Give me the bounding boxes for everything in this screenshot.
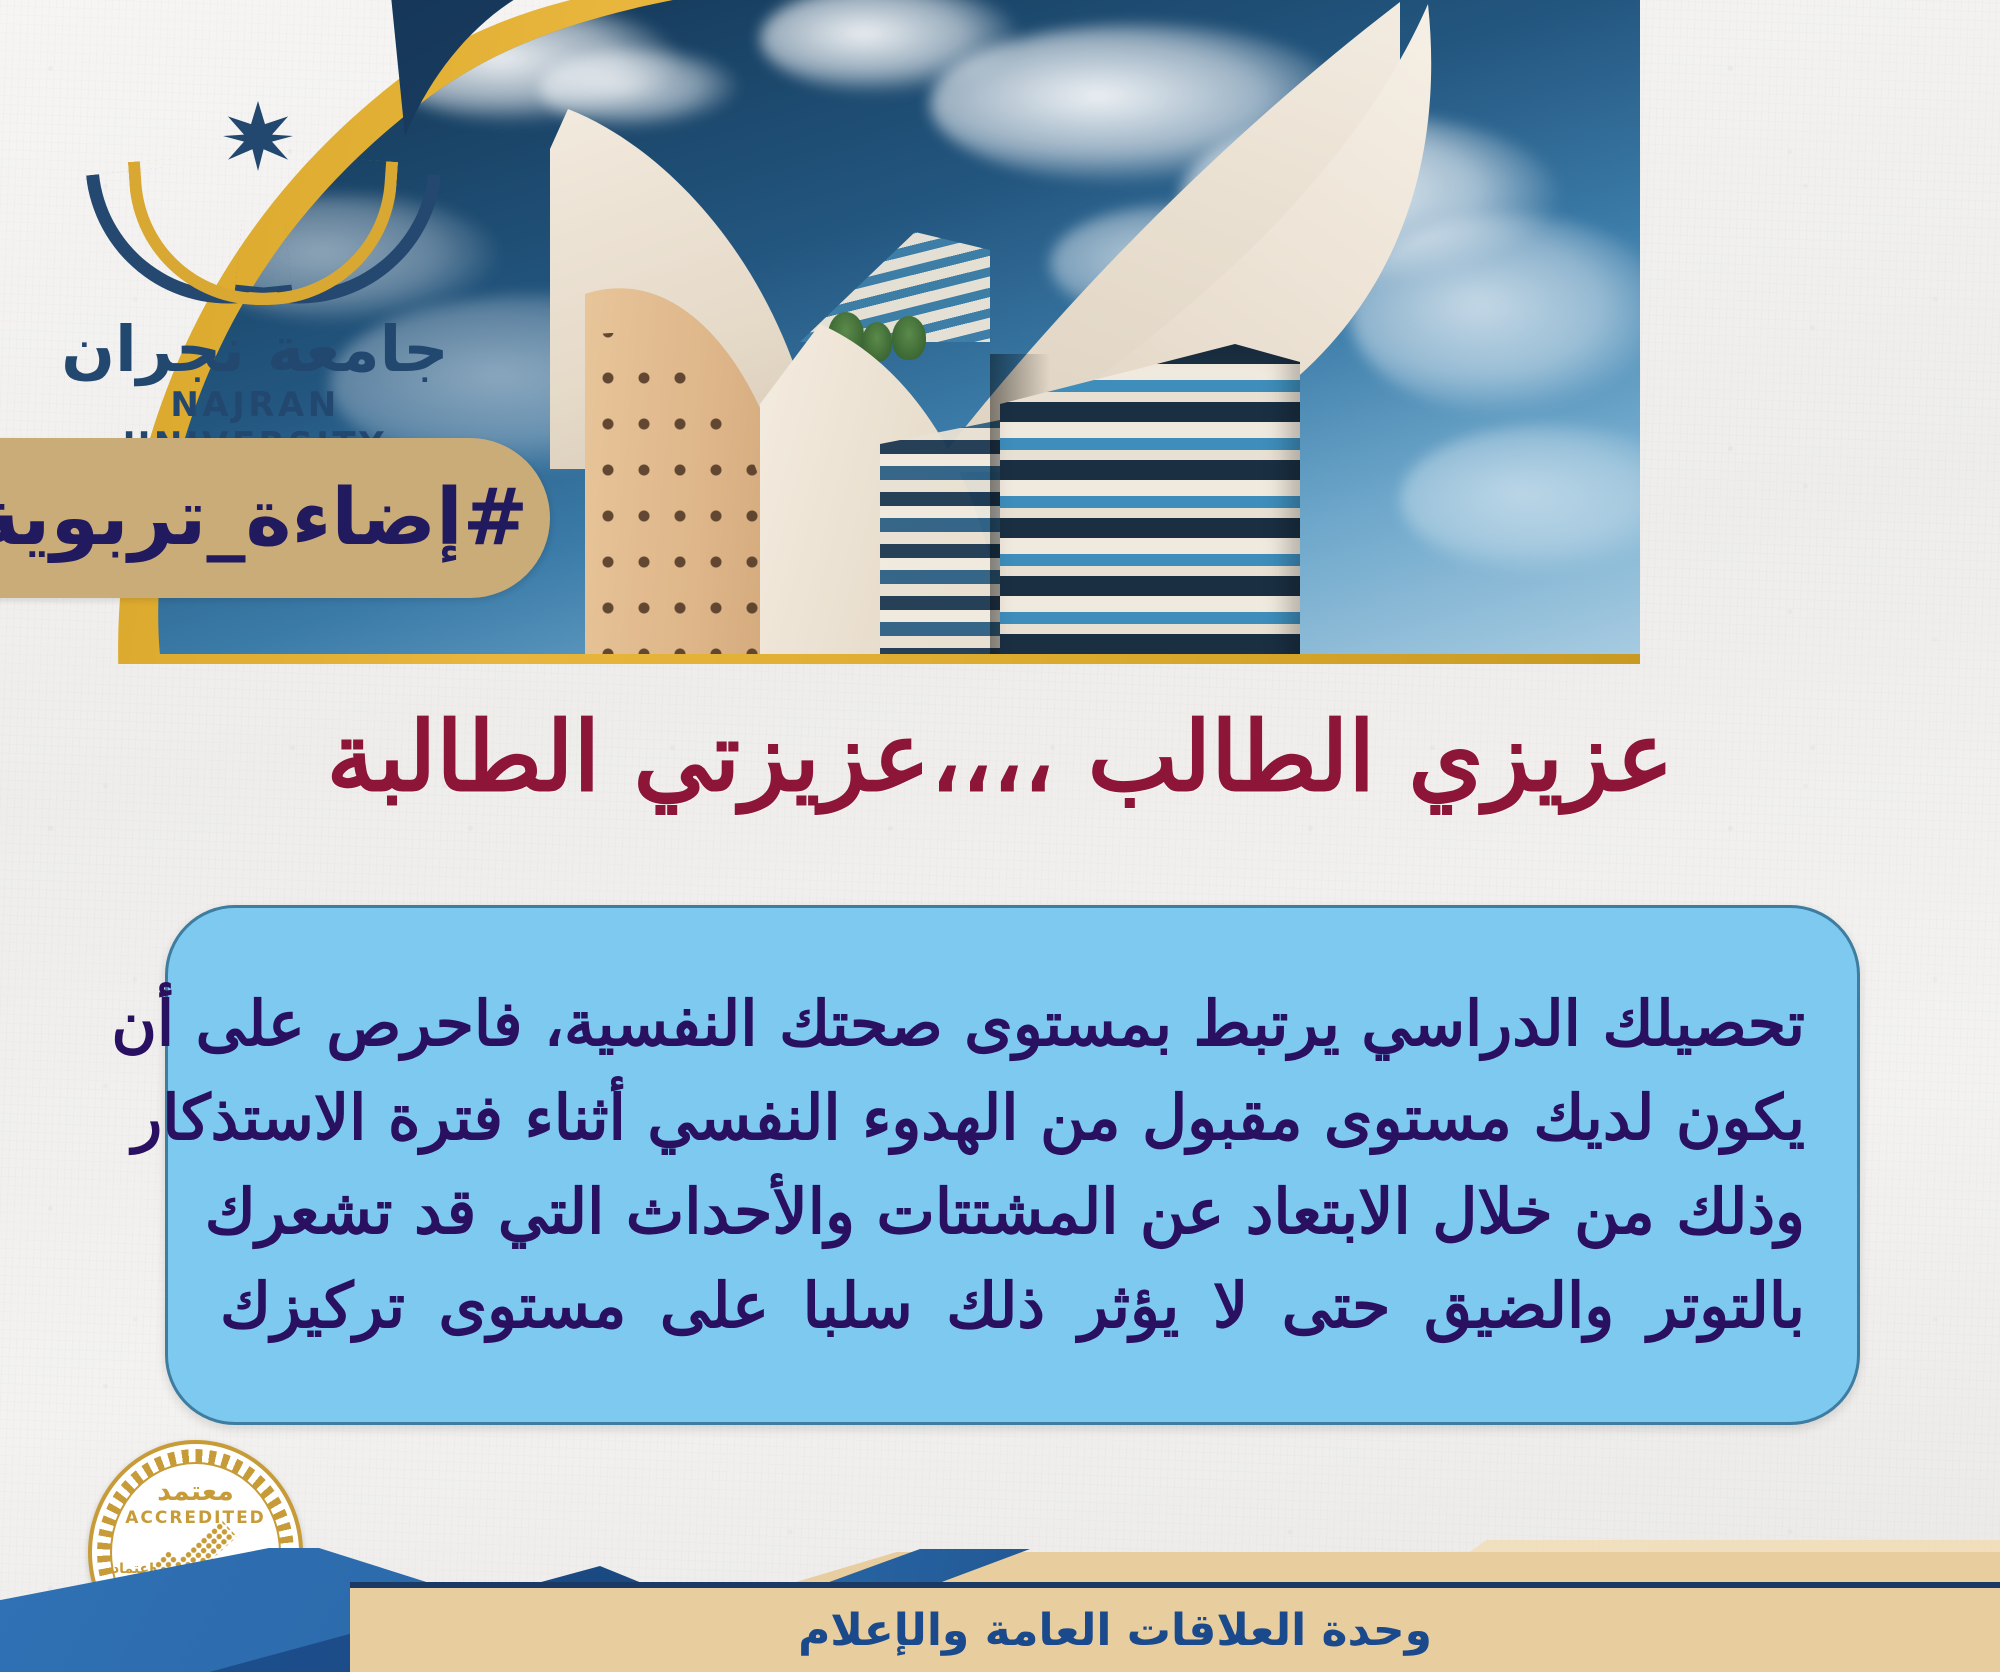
- page-title: عزيزي الطالب ،،،،عزيزتي الطالبة: [0, 700, 2000, 813]
- seal-title-english: ACCREDITED: [125, 1508, 266, 1528]
- hashtag-label: #إضاءة_تربوية: [0, 473, 546, 563]
- poster-canvas: جامعة نجران NAJRAN UNIVERSITY كلية الترب…: [0, 0, 2000, 1672]
- university-logo-mark: [55, 95, 455, 325]
- university-name-arabic: جامعة نجران: [55, 317, 455, 383]
- terrace-plant: [892, 316, 926, 360]
- message-line: تحصيلك الدراسي يرتبط بمستوى صحتك النفسية…: [220, 977, 1805, 1071]
- message-line: وذلك من خلال الابتعاد عن المشتتات والأحد…: [220, 1165, 1805, 1259]
- message-line: يكون لديك مستوى مقبول من الهدوء النفسي أ…: [220, 1071, 1805, 1165]
- hashtag-badge[interactable]: #إضاءة_تربوية: [0, 438, 550, 598]
- book-swoosh-gold-right-icon: [248, 152, 398, 313]
- seal-title-arabic: معتمد: [157, 1478, 234, 1505]
- footer-label: وحدة العلاقات العامة والإعلام: [798, 1605, 1432, 1656]
- footer-bar: وحدة العلاقات العامة والإعلام: [350, 1582, 2000, 1672]
- message-line: بالتوتر والضيق حتى لا يؤثر ذلك سلبا على …: [220, 1259, 1805, 1353]
- message-card: تحصيلك الدراسي يرتبط بمستوى صحتك النفسية…: [165, 905, 1860, 1425]
